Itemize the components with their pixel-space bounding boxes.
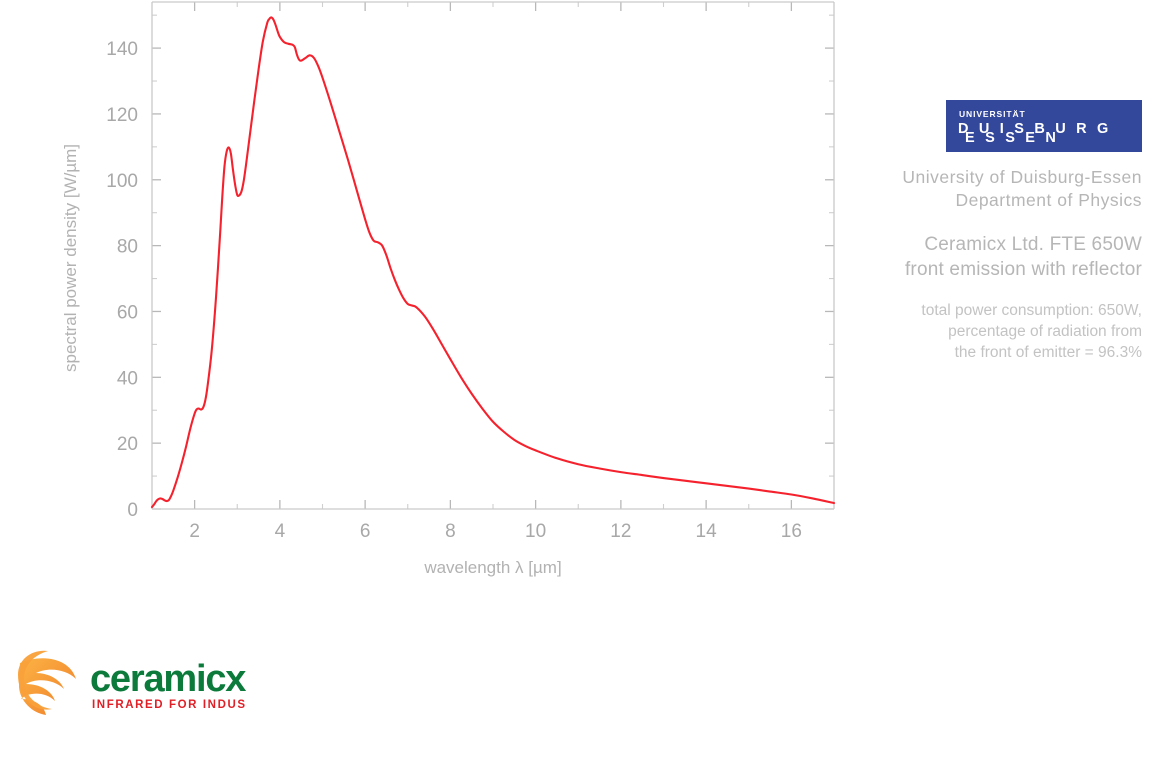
data-curve-front-emission bbox=[152, 17, 834, 507]
note-line-1: total power consumption: 650W, bbox=[882, 300, 1142, 321]
chart-tick-labels: 246810121416020406080100120140 bbox=[106, 39, 802, 542]
product-title-line-1: Ceramicx Ltd. FTE 650W bbox=[882, 232, 1142, 257]
x-tick-label: 4 bbox=[275, 521, 286, 542]
x-tick-label: 14 bbox=[696, 521, 718, 542]
info-panel: UNIVERSITÄT D U I S B U R G E S S E N Un… bbox=[882, 100, 1142, 363]
chart-frame bbox=[152, 2, 834, 509]
product-title-line-2: front emission with reflector bbox=[882, 257, 1142, 282]
x-tick-label: 2 bbox=[189, 521, 200, 542]
ceramicx-tagline: INFRARED FOR INDUSTRY bbox=[92, 699, 246, 711]
x-tick-label: 8 bbox=[445, 521, 456, 542]
y-tick-label: 120 bbox=[106, 105, 138, 126]
ceramicx-logo-svg: ceramicx INFRARED FOR INDUSTRY bbox=[14, 645, 246, 723]
ceramicx-flame-mark bbox=[18, 651, 76, 715]
x-tick-label: 10 bbox=[525, 521, 546, 542]
chart-ticks bbox=[152, 2, 834, 509]
spectral-power-density-chart: 246810121416020406080100120140 wavelengt… bbox=[0, 0, 860, 600]
chart-panel: 246810121416020406080100120140 wavelengt… bbox=[0, 0, 860, 600]
university-affiliation: University of Duisburg-Essen Department … bbox=[882, 166, 1142, 212]
y-axis-label: spectral power density [W/µm] bbox=[61, 144, 80, 372]
x-tick-label: 16 bbox=[781, 521, 802, 542]
x-tick-label: 12 bbox=[610, 521, 631, 542]
university-department: Department of Physics bbox=[882, 189, 1142, 212]
ceramicx-wordmark: ceramicx bbox=[90, 658, 246, 700]
y-tick-label: 140 bbox=[106, 39, 138, 60]
x-axis-label: wavelength λ [µm] bbox=[423, 558, 561, 577]
note-line-3: the front of emitter = 96.3% bbox=[882, 342, 1142, 363]
logo-line-essen: E S S E N bbox=[965, 130, 1059, 146]
note-line-2: percentage of radiation from bbox=[882, 321, 1142, 342]
y-tick-label: 20 bbox=[117, 434, 138, 455]
x-tick-label: 6 bbox=[360, 521, 371, 542]
measurement-note: total power consumption: 650W, percentag… bbox=[882, 300, 1142, 363]
y-tick-label: 80 bbox=[117, 237, 138, 258]
product-title: Ceramicx Ltd. FTE 650W front emission wi… bbox=[882, 232, 1142, 282]
logo-line-universitaet: UNIVERSITÄT bbox=[959, 109, 1026, 119]
ceramicx-logo: ceramicx INFRARED FOR INDUSTRY bbox=[14, 645, 246, 723]
y-tick-label: 60 bbox=[117, 302, 138, 323]
university-name: University of Duisburg-Essen bbox=[882, 166, 1142, 189]
y-tick-label: 40 bbox=[117, 368, 138, 389]
university-duisburg-essen-logo: UNIVERSITÄT D U I S B U R G E S S E N bbox=[946, 100, 1142, 152]
y-tick-label: 0 bbox=[127, 500, 138, 521]
y-tick-label: 100 bbox=[106, 171, 138, 192]
